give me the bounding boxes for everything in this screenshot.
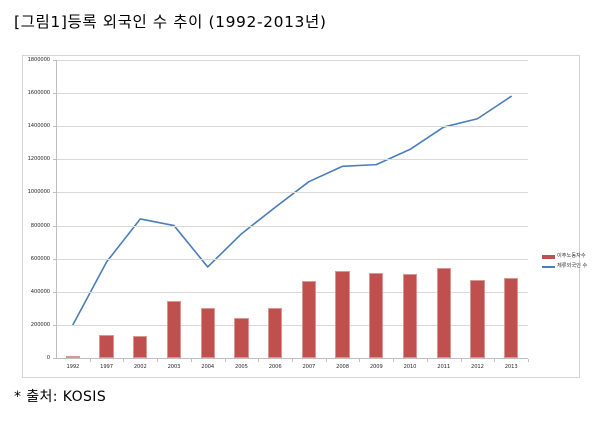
x-axis-tick-mark xyxy=(90,359,91,362)
x-axis-tick-mark xyxy=(461,359,462,362)
gridline xyxy=(56,192,528,193)
x-axis-tick-label: 2003 xyxy=(157,364,191,370)
x-axis-tick-mark xyxy=(258,359,259,362)
x-axis-tick-label: 2012 xyxy=(461,364,495,370)
gridline xyxy=(56,226,528,227)
y-axis-line xyxy=(56,60,57,358)
gridline xyxy=(56,259,528,260)
x-axis-tick-label: 2007 xyxy=(292,364,326,370)
y-axis-tick-label: 0 xyxy=(10,355,50,361)
y-axis-tick-label: 1600000 xyxy=(10,90,50,96)
x-axis-tick-mark xyxy=(326,359,327,362)
x-axis-tick-label: 1997 xyxy=(90,364,124,370)
x-axis-tick-label: 2013 xyxy=(494,364,528,370)
bar-data-point xyxy=(99,335,113,358)
y-axis-tick-label: 1400000 xyxy=(10,123,50,129)
plot-area: 0200000400000600000800000100000012000001… xyxy=(56,58,528,379)
legend-item-bar-series: 이주노동자수 xyxy=(542,252,600,262)
y-axis-tick-label: 200000 xyxy=(10,322,50,328)
bar-data-point xyxy=(234,318,248,358)
gridline xyxy=(56,60,528,61)
x-axis-tick-mark xyxy=(191,359,192,362)
x-axis-tick-label: 2002 xyxy=(123,364,157,370)
legend-swatch-bar-icon xyxy=(542,255,555,259)
chart-frame: 0200000400000600000800000100000012000001… xyxy=(22,55,580,378)
bar-data-point xyxy=(437,268,451,358)
y-axis-tick-label: 400000 xyxy=(10,289,50,295)
bar-data-point xyxy=(504,278,518,358)
legend-label-bar-series: 이주노동자수 xyxy=(557,252,586,262)
x-axis-tick-label: 2005 xyxy=(225,364,259,370)
y-axis-tick-label: 1000000 xyxy=(10,189,50,195)
bar-data-point xyxy=(66,356,80,358)
x-axis-tick-mark xyxy=(528,359,529,362)
bar-data-point xyxy=(403,274,417,358)
bar-data-point xyxy=(268,308,282,358)
y-axis-tick-label: 600000 xyxy=(10,256,50,262)
gridline xyxy=(56,325,528,326)
bar-data-point xyxy=(133,336,147,358)
gridline xyxy=(56,126,528,127)
legend-label-line-series: 체류외국인 수 xyxy=(557,262,587,272)
y-axis-tick-label: 1200000 xyxy=(10,156,50,162)
y-axis-tick-label: 800000 xyxy=(10,223,50,229)
x-axis-tick-mark xyxy=(292,359,293,362)
source-caption: * 출처: KOSIS xyxy=(14,386,106,406)
gridline xyxy=(56,93,528,94)
x-axis-tick-mark xyxy=(157,359,158,362)
legend-item-line-series: 체류외국인 수 xyxy=(542,262,600,272)
page-title: [그림1]등록 외국인 수 추이 (1992-2013년) xyxy=(14,10,327,32)
line-series-svg xyxy=(56,58,528,379)
gridline xyxy=(56,159,528,160)
x-axis-tick-label: 2004 xyxy=(191,364,225,370)
x-axis-tick-mark xyxy=(393,359,394,362)
x-axis-tick-mark xyxy=(123,359,124,362)
x-axis-tick-label: 2008 xyxy=(326,364,360,370)
x-axis-tick-label: 1992 xyxy=(56,364,90,370)
bar-data-point xyxy=(369,273,383,358)
x-axis-tick-label: 2006 xyxy=(258,364,292,370)
x-axis-tick-label: 2010 xyxy=(393,364,427,370)
x-axis-tick-label: 2009 xyxy=(359,364,393,370)
bar-data-point xyxy=(167,301,181,358)
x-axis-tick-mark xyxy=(427,359,428,362)
x-axis-tick-label: 2011 xyxy=(427,364,461,370)
bar-data-point xyxy=(335,271,349,358)
bar-data-point xyxy=(470,280,484,358)
legend-swatch-line-icon xyxy=(542,266,555,268)
chart-legend: 이주노동자수 체류외국인 수 xyxy=(542,252,600,272)
x-axis-tick-mark xyxy=(359,359,360,362)
bar-data-point xyxy=(201,308,215,358)
bar-data-point xyxy=(302,281,316,358)
gridline xyxy=(56,292,528,293)
x-axis-tick-mark xyxy=(494,359,495,362)
x-axis-tick-mark xyxy=(225,359,226,362)
y-axis-tick-label: 1800000 xyxy=(10,57,50,63)
